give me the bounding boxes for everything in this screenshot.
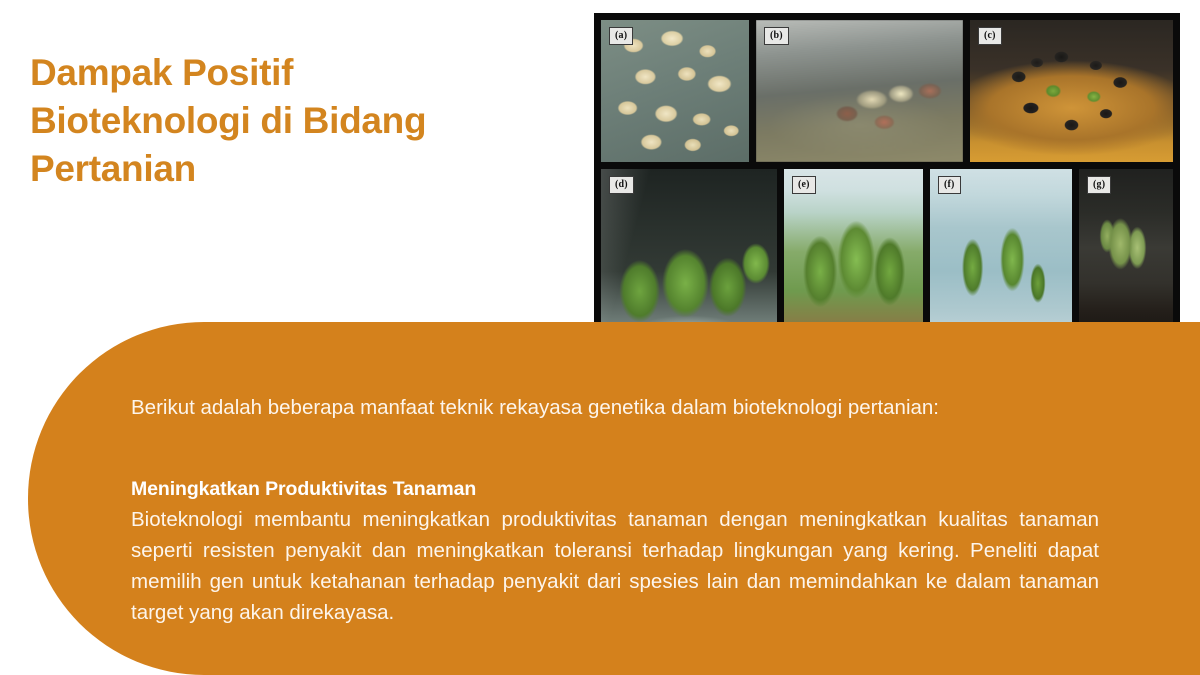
section-heading: Meningkatkan Produktivitas Tanaman [131, 423, 1099, 502]
figure-label-f: (f) [938, 176, 961, 194]
figure-panel-c: (c) [970, 20, 1173, 162]
slide: Dampak Positif Bioteknologi di Bidang Pe… [0, 0, 1200, 675]
figure-row-top: (a) (b) (c) [601, 20, 1173, 162]
figure-panel-a: (a) [601, 20, 749, 162]
figure-label-g: (g) [1087, 176, 1111, 194]
page-title: Dampak Positif Bioteknologi di Bidang Pe… [30, 49, 550, 193]
content-text-block: Berikut adalah beberapa manfaat teknik r… [131, 392, 1099, 628]
figure-panel-b: (b) [756, 20, 963, 162]
figure-label-c: (c) [978, 27, 1002, 45]
body-paragraph: Bioteknologi membantu meningkatkan produ… [131, 502, 1099, 628]
figure-label-b: (b) [764, 27, 789, 45]
figure-label-e: (e) [792, 176, 816, 194]
intro-paragraph: Berikut adalah beberapa manfaat teknik r… [131, 392, 1099, 423]
figure-panel-grid: (a) (b) (c) (d) (e) (f) [594, 13, 1180, 373]
figure-label-a: (a) [609, 27, 633, 45]
figure-label-d: (d) [609, 176, 634, 194]
